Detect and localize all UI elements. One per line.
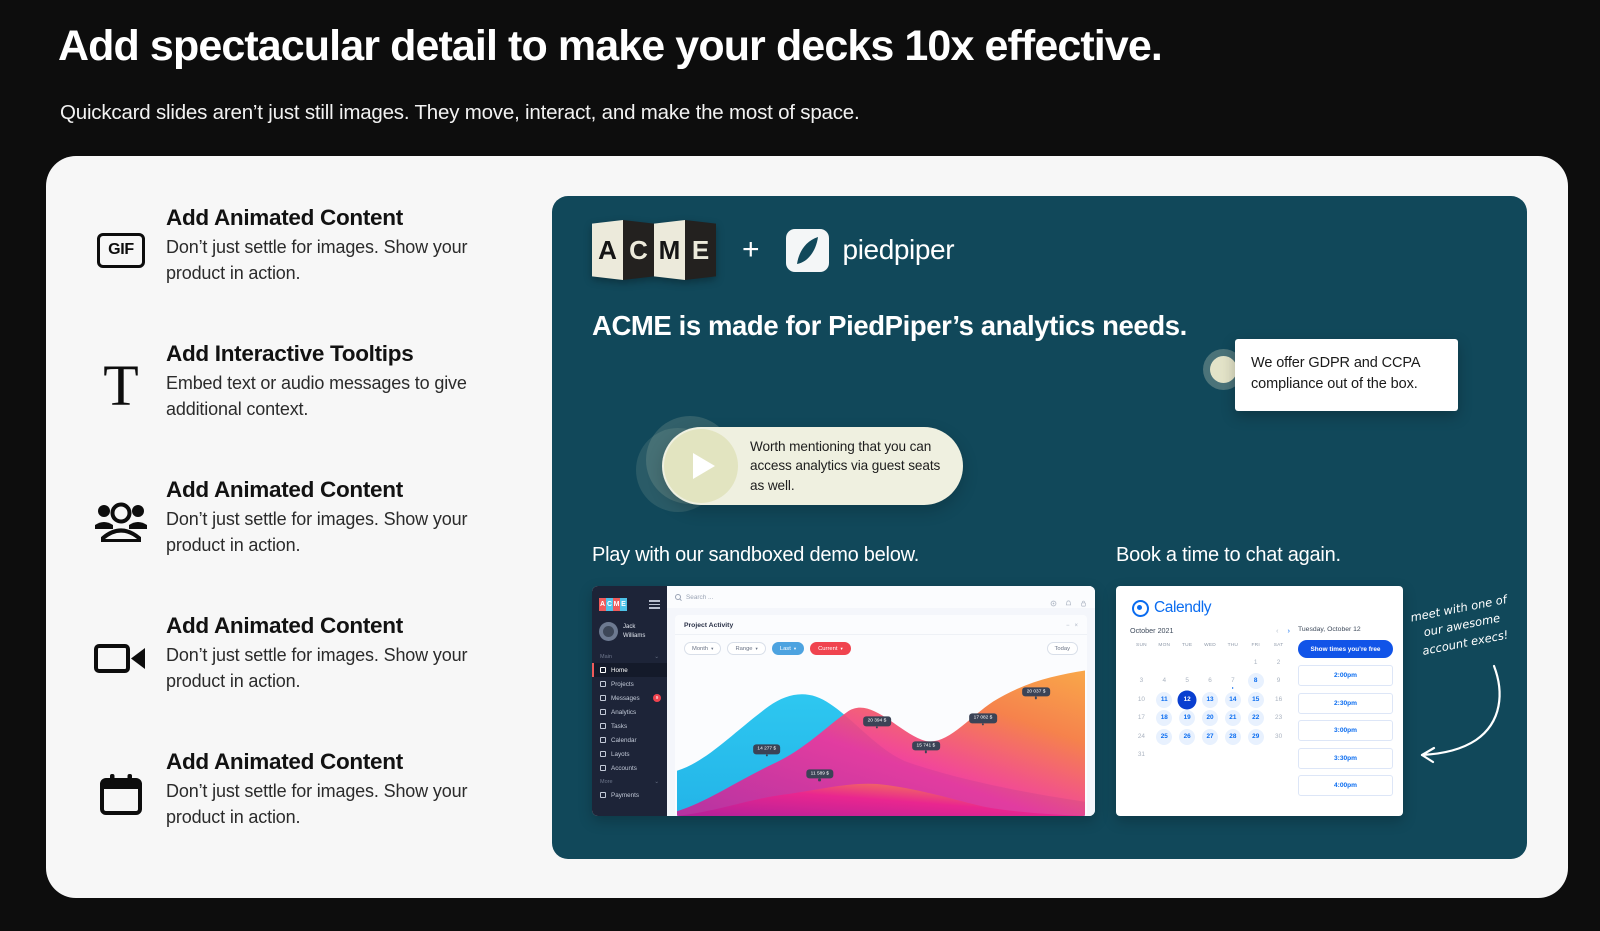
- today-button[interactable]: Today: [1047, 642, 1078, 655]
- payments-icon: [600, 792, 606, 798]
- chevron-down-icon[interactable]: ⌄: [654, 779, 659, 785]
- dashboard-sidebar: A C M E Jack Williams: [592, 586, 667, 816]
- chart-data-label: 14 277 $: [753, 744, 781, 754]
- calendar-day[interactable]: 19: [1176, 710, 1199, 726]
- sidebar-item-label: Home: [611, 667, 628, 674]
- calendar-day[interactable]: 18: [1153, 710, 1176, 726]
- calendar-day-number: 12: [1184, 696, 1191, 703]
- calendar-day-number: 25: [1161, 733, 1168, 740]
- calendar-day-blank: [1221, 655, 1244, 671]
- search-input[interactable]: Search ...: [675, 594, 713, 601]
- dashboard-logo-letter: C: [606, 598, 613, 611]
- chart-svg: [677, 661, 1085, 816]
- calendar-day[interactable]: 11: [1153, 692, 1176, 708]
- piedpiper-mark-icon: [786, 229, 829, 272]
- calendar-day[interactable]: 15: [1244, 692, 1267, 708]
- chart-data-label: 11 589 $: [806, 769, 833, 779]
- calendar-day: 23: [1267, 710, 1290, 726]
- sidebar-item-payments[interactable]: Payments: [592, 788, 667, 802]
- acme-letter: A: [592, 220, 623, 280]
- chart-data-label: 20 037 $: [1022, 687, 1050, 697]
- project-activity-panel: Project Activity − × Month ▾: [675, 615, 1087, 816]
- calendar-grid: SUN MON TUE WED THU FRI SAT 123456789101…: [1130, 643, 1290, 763]
- gear-icon[interactable]: [1050, 594, 1057, 601]
- calendar-day-number: 29: [1252, 733, 1259, 740]
- dashboard-topbar-icons: [1050, 594, 1087, 601]
- calendar-day[interactable]: 21: [1221, 710, 1244, 726]
- calendly-body: October 2021 ‹ › SUN MON TUE WED THU: [1116, 617, 1403, 803]
- dashboard-logo-letter: A: [599, 598, 606, 611]
- dashboard-main: Search ...: [667, 586, 1095, 816]
- calendar-day-number: 1: [1254, 659, 1258, 666]
- calendar-day[interactable]: 28: [1221, 729, 1244, 745]
- feature-description: Don’t just settle for images. Show your …: [166, 507, 511, 558]
- list-item[interactable]: GIF Add Animated Content Don’t just sett…: [93, 204, 548, 312]
- search-icon: [675, 594, 681, 600]
- minimize-icon[interactable]: −: [1066, 623, 1070, 629]
- calendar-day: 10: [1130, 692, 1153, 708]
- acme-letter: C: [623, 220, 654, 280]
- user-last-name: Williams: [623, 633, 645, 639]
- piedpiper-logo: piedpiper: [786, 229, 955, 272]
- sidebar-item-label: Accounts: [611, 765, 637, 772]
- sidebar-item-label: Projects: [611, 681, 634, 688]
- sidebar-item-calendar[interactable]: Calendar: [592, 733, 667, 747]
- chip-label: Last: [780, 646, 791, 652]
- calendly-logo: Calendly: [1116, 596, 1403, 617]
- feature-description: Don’t just settle for images. Show your …: [166, 235, 511, 286]
- prev-month-button[interactable]: ‹: [1276, 626, 1279, 635]
- calendar-day-dot: [1232, 687, 1234, 689]
- chart-data-label: 17 082 $: [969, 713, 997, 723]
- list-item[interactable]: T Add Interactive Tooltips Embed text or…: [93, 340, 548, 448]
- calendar-day-blank: [1153, 655, 1176, 671]
- chevron-down-icon: ▾: [711, 646, 713, 652]
- calendar-day-number: 9: [1277, 677, 1281, 684]
- nav-group-title: More: [600, 779, 613, 785]
- accounts-icon: [600, 765, 606, 771]
- dashboard-user-profile[interactable]: Jack Williams: [592, 611, 667, 650]
- calendar-day[interactable]: 8: [1244, 673, 1267, 689]
- calendar-day-number: 27: [1206, 733, 1213, 740]
- calendar-day-number: 24: [1138, 733, 1145, 740]
- nav-group-main-label: Main ⌄: [592, 650, 667, 663]
- page-headline: Add spectacular detail to make your deck…: [58, 22, 1162, 71]
- feature-description: Embed text or audio messages to give add…: [166, 371, 511, 422]
- page-title: Project Activity: [684, 622, 733, 629]
- calendly-timeslots: Tuesday, October 12 Show times you’re fr…: [1298, 626, 1393, 803]
- calendar-day-number: 23: [1275, 714, 1282, 721]
- chip-label: Current: [818, 646, 837, 652]
- calendar-day: 4: [1153, 673, 1176, 689]
- calendar-day-number: 28: [1229, 733, 1236, 740]
- calendar-day-number: 2: [1277, 659, 1281, 666]
- calendar-day-blank: [1267, 747, 1290, 763]
- calendar-day: 16: [1267, 692, 1290, 708]
- calendar-day-number: 4: [1162, 677, 1166, 684]
- calendar-day-number: 15: [1252, 696, 1259, 703]
- sidebar-item-layots[interactable]: Layots: [592, 747, 667, 761]
- calendar-day-number: 16: [1275, 696, 1282, 703]
- sidebar-item-tasks[interactable]: Tasks: [592, 719, 667, 733]
- bell-icon[interactable]: [1065, 594, 1072, 601]
- calendar-day: 6: [1199, 673, 1222, 689]
- filter-chip-month[interactable]: Month ▾: [684, 642, 721, 655]
- calendly-mark-icon: [1132, 600, 1149, 617]
- calendar-dow-label: TUE: [1176, 643, 1199, 652]
- analytics-icon: [600, 709, 606, 715]
- calendar-day[interactable]: 20: [1199, 710, 1222, 726]
- calendar-day: 7: [1221, 673, 1244, 689]
- calendar-day: 2: [1267, 655, 1290, 671]
- people-group-icon: [93, 494, 149, 550]
- timeslot-button[interactable]: 3:30pm: [1298, 748, 1393, 769]
- chevron-down-icon: ▾: [840, 646, 842, 652]
- dashboard-user-name: Jack Williams: [623, 623, 645, 639]
- calendar-day[interactable]: 14: [1221, 692, 1244, 708]
- calendar-day[interactable]: 27: [1199, 729, 1222, 745]
- projects-icon: [600, 681, 606, 687]
- page-subheadline: Quickcard slides aren’t just still image…: [60, 101, 860, 125]
- calendar-dow-label: FRI: [1244, 643, 1267, 652]
- sidebar-item-label: Calendar: [611, 737, 637, 744]
- chip-label: Month: [692, 646, 708, 652]
- feature-title: Add Animated Content: [166, 476, 548, 504]
- slide-headline: ACME is made for PiedPiper’s analytics n…: [592, 310, 1187, 342]
- sidebar-item-label: Analytics: [611, 709, 636, 716]
- dashboard-logo[interactable]: A C M E: [599, 598, 627, 611]
- curved-arrow-icon: [1406, 594, 1521, 774]
- list-item[interactable]: Add Animated Content Don’t just settle f…: [93, 476, 548, 584]
- timeslot-button[interactable]: 2:30pm: [1298, 693, 1393, 714]
- dashboard-sidebar-header: A C M E: [592, 594, 667, 611]
- selected-date-label: Tuesday, October 12: [1298, 626, 1393, 633]
- nav-group-more-label: More ⌄: [592, 775, 667, 788]
- calendar-dow-label: SAT: [1267, 643, 1290, 652]
- home-icon: [600, 667, 606, 673]
- audio-message-text: Worth mentioning that you can access ana…: [738, 437, 963, 495]
- dashboard-topbar: Search ...: [667, 586, 1095, 608]
- calendar-dow-label: MON: [1153, 643, 1176, 652]
- calendar-dow-label: SUN: [1130, 643, 1153, 652]
- calendar-day-number: 6: [1208, 677, 1212, 684]
- calendar-day-blank: [1176, 655, 1199, 671]
- sidebar-item-label: Layots: [611, 751, 630, 758]
- calendar-day[interactable]: 25: [1153, 729, 1176, 745]
- calendar-day-blank: [1199, 747, 1222, 763]
- chevron-down-icon: ▾: [756, 646, 758, 652]
- calendar-day-number: 13: [1206, 696, 1213, 703]
- list-item[interactable]: Add Animated Content Don’t just settle f…: [93, 612, 548, 720]
- dashboard-logo-letter: E: [620, 598, 627, 611]
- sidebar-item-home[interactable]: Home: [592, 663, 667, 677]
- activity-area-chart: 14 277 $ 11 589 $ 20 394 $ 15 741 $ 17 0…: [677, 661, 1085, 816]
- status-badge: 9: [653, 694, 661, 702]
- calendar-day: 1: [1244, 655, 1267, 671]
- calendar-day-number: 7: [1231, 677, 1235, 684]
- calendar-dow-label: THU: [1221, 643, 1244, 652]
- calendar-day[interactable]: 13: [1199, 692, 1222, 708]
- calendar-dow-label: WED: [1199, 643, 1222, 652]
- page-root: Add spectacular detail to make your deck…: [0, 0, 1600, 931]
- audio-message-bubble[interactable]: Worth mentioning that you can access ana…: [662, 427, 963, 505]
- feature-description: Don’t just settle for images. Show your …: [166, 643, 511, 694]
- tooltip-marker-icon[interactable]: [1210, 356, 1237, 383]
- calendar-day: 30: [1267, 729, 1290, 745]
- timeslot-button[interactable]: 3:00pm: [1298, 720, 1393, 741]
- calendar-day-number: 17: [1138, 714, 1145, 721]
- feature-title: Add Interactive Tooltips: [166, 340, 548, 368]
- embedded-calendly-widget[interactable]: Calendly October 2021 ‹ › SUN: [1116, 586, 1403, 816]
- hamburger-menu-icon[interactable]: [649, 600, 660, 609]
- calendar-day: 24: [1130, 729, 1153, 745]
- timeslot-button[interactable]: 4:00pm: [1298, 775, 1393, 796]
- chart-filter-chips: Month ▾ Range ▾ Last ▾: [675, 635, 1087, 661]
- calendar-month-header: October 2021 ‹ ›: [1130, 626, 1290, 635]
- slide-preview-panel: A C M E + piedpiper ACME is made for Pie…: [552, 196, 1527, 859]
- sidebar-item-messages[interactable]: Messages 9: [592, 691, 667, 705]
- chevron-down-icon[interactable]: ⌄: [654, 654, 659, 660]
- layouts-icon: [600, 751, 606, 757]
- calendar-day-number: 19: [1184, 714, 1191, 721]
- filter-chip-range[interactable]: Range ▾: [727, 642, 765, 655]
- calendar-day-number: 10: [1138, 696, 1145, 703]
- calendar-day-number: 11: [1161, 696, 1168, 703]
- feature-card: GIF Add Animated Content Don’t just sett…: [46, 156, 1568, 898]
- calendar-day[interactable]: 26: [1176, 729, 1199, 745]
- search-placeholder-text: Search ...: [686, 594, 713, 601]
- lock-icon[interactable]: [1080, 594, 1087, 601]
- calendar-day: 3: [1130, 673, 1153, 689]
- calendar-month-label: October 2021: [1130, 626, 1174, 635]
- tooltip-popup: We offer GDPR and CCPA compliance out of…: [1235, 339, 1458, 411]
- calendar-day-number: 26: [1184, 733, 1191, 740]
- calendar-day: 17: [1130, 710, 1153, 726]
- calendar-month-view: October 2021 ‹ › SUN MON TUE WED THU: [1130, 626, 1290, 803]
- calendar-day-blank: [1153, 747, 1176, 763]
- sidebar-item-accounts[interactable]: Accounts: [592, 761, 667, 775]
- calendar-day-number: 14: [1229, 696, 1236, 703]
- calendly-brand-name: Calendly: [1154, 599, 1211, 617]
- feature-title: Add Animated Content: [166, 204, 548, 232]
- gif-icon: GIF: [93, 222, 149, 278]
- sidebar-item-label: Tasks: [611, 723, 627, 730]
- chart-data-label: 20 394 $: [863, 717, 891, 727]
- calendar-day-blank: [1199, 655, 1222, 671]
- acme-letter: M: [654, 220, 685, 280]
- calendar-icon: [93, 766, 149, 822]
- avatar: [599, 622, 618, 641]
- logo-row: A C M E + piedpiper: [592, 220, 954, 280]
- play-button[interactable]: [664, 429, 738, 503]
- nav-group-title: Main: [600, 654, 612, 660]
- chip-label: Range: [735, 646, 752, 652]
- feature-description: Don’t just settle for images. Show your …: [166, 779, 511, 830]
- dashboard-logo-letter: M: [613, 598, 620, 611]
- piedpiper-name: piedpiper: [843, 234, 955, 266]
- filter-chip-current[interactable]: Current ▾: [810, 642, 851, 655]
- calendar-day-blank: [1130, 655, 1153, 671]
- calendar-nav: ‹ ›: [1276, 626, 1290, 635]
- sidebar-item-analytics[interactable]: Analytics: [592, 705, 667, 719]
- video-camera-icon: [93, 630, 149, 686]
- calendar-day-number: 20: [1206, 714, 1213, 721]
- gif-badge-label: GIF: [97, 233, 145, 268]
- calendar-day: 5: [1176, 673, 1199, 689]
- panel-header: Project Activity − ×: [675, 615, 1087, 635]
- plus-icon: +: [736, 233, 766, 267]
- handwritten-note-text: meet with one of our awesome account exe…: [1404, 590, 1520, 661]
- play-icon: [693, 453, 715, 479]
- feature-title: Add Animated Content: [166, 612, 548, 640]
- tasks-icon: [600, 723, 606, 729]
- caption-demo: Play with our sandboxed demo below.: [592, 544, 919, 567]
- calendar-day-number: 30: [1275, 733, 1282, 740]
- close-icon[interactable]: ×: [1074, 623, 1078, 629]
- text-tooltip-icon: T: [93, 358, 149, 414]
- filter-chip-last[interactable]: Last ▾: [772, 642, 804, 655]
- calendar-day: 31: [1130, 747, 1153, 763]
- calendar-day-number: 21: [1229, 714, 1236, 721]
- calendar-day[interactable]: 29: [1244, 729, 1267, 745]
- next-month-button[interactable]: ›: [1288, 626, 1291, 635]
- calendar-day: 9: [1267, 673, 1290, 689]
- caption-booking: Book a time to chat again.: [1116, 544, 1341, 567]
- sidebar-item-label: Messages: [611, 695, 640, 702]
- timeslot-button[interactable]: 2:00pm: [1298, 665, 1393, 686]
- sidebar-item-label: Payments: [611, 792, 639, 799]
- calendar-day-blank: [1176, 747, 1199, 763]
- calendar-day-number: 5: [1185, 677, 1189, 684]
- embedded-dashboard-demo[interactable]: A C M E Jack Williams: [592, 586, 1095, 816]
- sidebar-item-projects[interactable]: Projects: [592, 677, 667, 691]
- calendar-day-blank: [1244, 747, 1267, 763]
- calendar-day-number: 22: [1252, 714, 1259, 721]
- calendar-day-number: 3: [1140, 677, 1144, 684]
- calendar-day[interactable]: 22: [1244, 710, 1267, 726]
- calendar-day-number: 8: [1254, 677, 1258, 684]
- messages-icon: [600, 695, 606, 701]
- user-first-name: Jack: [623, 624, 635, 630]
- show-times-button[interactable]: Show times you’re free: [1298, 640, 1393, 658]
- calendar-day-number: 18: [1161, 714, 1168, 721]
- panel-window-controls: − ×: [1066, 623, 1078, 629]
- calendar-day-number: 31: [1138, 751, 1145, 758]
- feature-title: Add Animated Content: [166, 748, 548, 776]
- calendar-day-blank: [1221, 747, 1244, 763]
- list-item[interactable]: Add Animated Content Don’t just settle f…: [93, 748, 548, 856]
- acme-letter: E: [685, 220, 716, 280]
- feature-list: GIF Add Animated Content Don’t just sett…: [93, 204, 548, 856]
- dashboard-nav-main: Home Projects Messages 9: [592, 663, 667, 775]
- chevron-down-icon: ▾: [794, 646, 796, 652]
- acme-logo: A C M E: [592, 220, 716, 280]
- calendar-icon: [600, 737, 606, 743]
- text-glyph-label: T: [103, 363, 138, 409]
- chart-data-label: 15 741 $: [912, 741, 940, 751]
- handwritten-annotation: meet with one of our awesome account exe…: [1406, 594, 1521, 774]
- calendar-day[interactable]: 12: [1176, 692, 1199, 708]
